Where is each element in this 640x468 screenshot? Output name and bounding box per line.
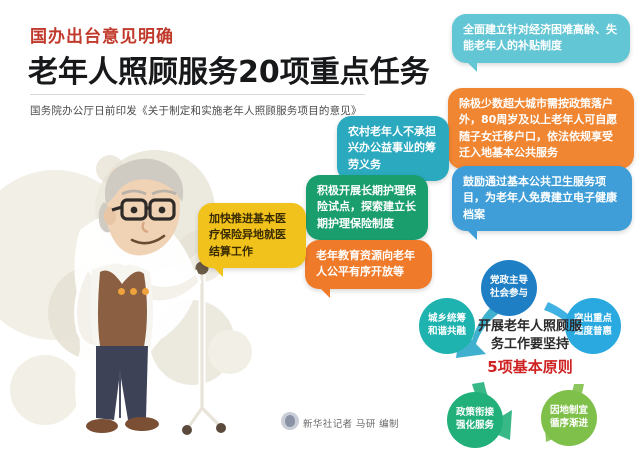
- core-highlight: 5项基本原则: [475, 357, 585, 378]
- kicker-text: 国办出台意见明确: [30, 22, 174, 47]
- subtitle-text: 国务院办公厅日前印发《关于制定和实施老年人照顾服务项目的意见》: [30, 103, 362, 118]
- principle-line1: 政策衔接: [456, 407, 494, 418]
- core-description: 开展老年人照顾服务工作要坚持: [478, 319, 582, 352]
- bubble-education-text: 老年教育资源向老年人公平有序开放等: [316, 248, 421, 281]
- principle-label: 城乡统筹 和谐共融: [428, 313, 466, 339]
- principle-label: 政策衔接 强化服务: [456, 407, 494, 433]
- bubble-tail: [319, 287, 330, 298]
- principle-line1: 因地制宜: [550, 405, 588, 416]
- principle-circle-local-fit[interactable]: 因地制宜 循序渐进: [541, 390, 597, 446]
- principle-line2: 强化服务: [456, 420, 494, 431]
- bubble-tail: [466, 61, 477, 72]
- bubble-tail: [212, 266, 223, 277]
- principle-line2: 社会参与: [490, 288, 528, 299]
- dot: [118, 288, 125, 295]
- elderly-man-illustration: [40, 150, 235, 450]
- bubble-household[interactable]: 除极少数超大城市需按政策落户外，80周岁及以上老年人可自愿随子女迁移户口，依法依…: [448, 88, 634, 169]
- bubble-household-text: 除极少数超大城市需按政策落户外，80周岁及以上老年人可自愿随子女迁移户口，依法依…: [459, 96, 623, 161]
- bubble-medical-settlement[interactable]: 加快推进基本医疗保险异地就医结算工作: [198, 203, 306, 268]
- bubble-subsidy-text: 全面建立针对经济困难高龄、失能老年人的补贴制度: [463, 22, 619, 55]
- bubble-health-record-text: 鼓励通过基本公共卫生服务项目，为老年人免费建立电子健康档案: [463, 174, 621, 223]
- bubble-long-term-care[interactable]: 积极开展长期护理保险试点，探索建立长期护理保险制度: [306, 175, 428, 240]
- principles-core-text: 开展老年人照顾服务工作要坚持 5项基本原则: [475, 318, 585, 378]
- principle-circle-party-led[interactable]: 党政主导 社会参与: [481, 260, 537, 316]
- principle-circle-urban-rural[interactable]: 城乡统筹 和谐共融: [419, 298, 475, 354]
- header-divider: [30, 94, 365, 95]
- principle-line1: 党政主导: [490, 275, 528, 286]
- principle-line1: 城乡统筹: [428, 313, 466, 324]
- dot: [130, 288, 137, 295]
- page-title: 老年人照顾服务20项重点任务: [28, 47, 430, 91]
- credit-text: 新华社记者 马研 编制: [303, 416, 399, 430]
- bubble-medical-settlement-text: 加快推进基本医疗保险异地就医结算工作: [209, 211, 295, 260]
- dot: [142, 288, 149, 295]
- principle-line2: 和谐共融: [428, 326, 466, 337]
- bubble-rural-duty-text: 农村老年人不承担兴办公益事业的筹劳义务: [348, 124, 438, 173]
- bubble-tail: [466, 229, 477, 240]
- xinhua-logo-icon: [281, 412, 299, 430]
- bubble-education[interactable]: 老年教育资源向老年人公平有序开放等: [305, 240, 432, 289]
- bubble-health-record[interactable]: 鼓励通过基本公共卫生服务项目，为老年人免费建立电子健康档案: [452, 166, 632, 231]
- bubble-rural-duty[interactable]: 农村老年人不承担兴办公益事业的筹劳义务: [337, 116, 449, 181]
- infographic-canvas: 国办出台意见明确 老年人照顾服务20项重点任务 国务院办公厅日前印发《关于制定和…: [0, 0, 640, 468]
- principle-circle-policy-link[interactable]: 政策衔接 强化服务: [447, 392, 503, 448]
- ellipsis-dots: [118, 288, 149, 295]
- bubble-subsidy[interactable]: 全面建立针对经济困难高龄、失能老年人的补贴制度: [452, 14, 630, 63]
- principle-label: 因地制宜 循序渐进: [550, 405, 588, 431]
- bubble-long-term-care-text: 积极开展长期护理保险试点，探索建立长期护理保险制度: [317, 183, 417, 232]
- principle-label: 党政主导 社会参与: [490, 275, 528, 301]
- principle-line2: 循序渐进: [550, 418, 588, 429]
